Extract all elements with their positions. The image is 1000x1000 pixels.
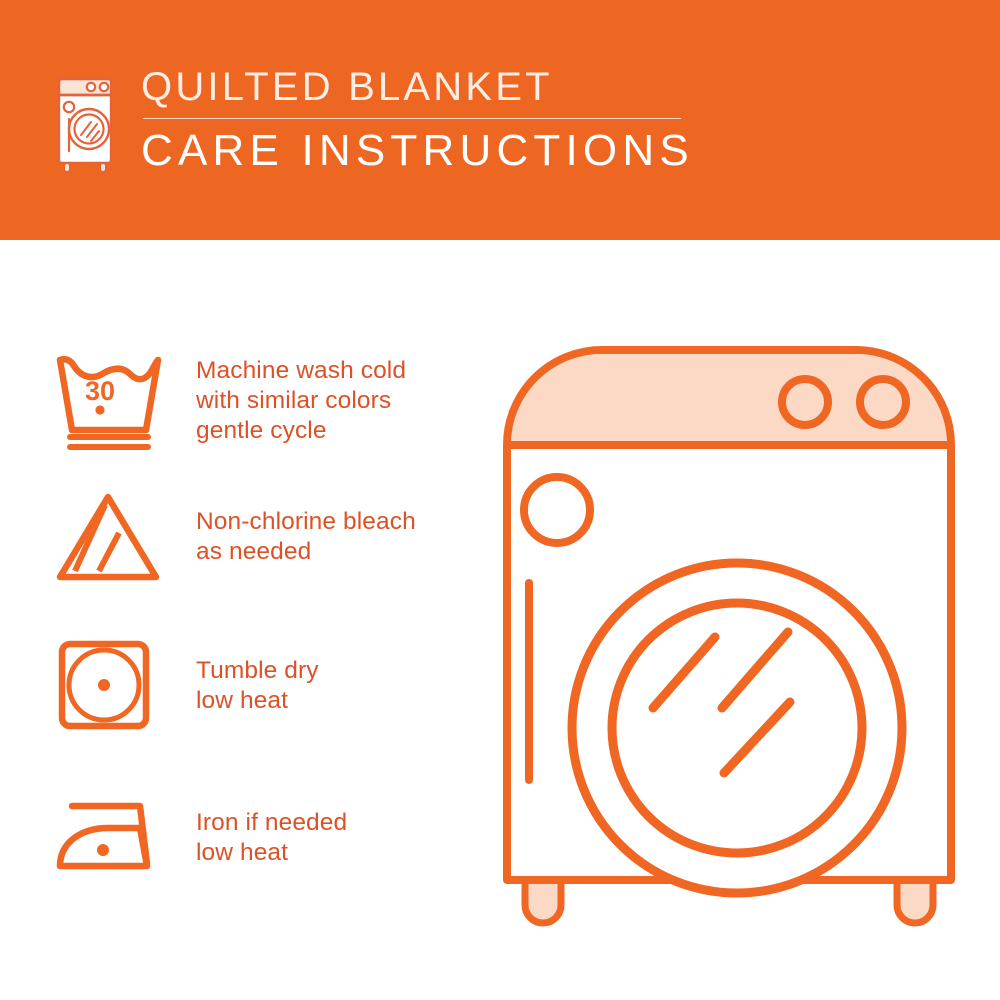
care-row-iron: Iron if needed low heat — [48, 788, 488, 894]
washer-dial-2 — [860, 379, 906, 425]
page-subtitle: QUILTED BLANKET — [141, 63, 694, 111]
care-instruction-list: 30 Machine wash cold with similar colors… — [0, 240, 500, 1000]
washing-machine-icon — [45, 65, 119, 175]
wash-tub-30-gentle-icon: 30 — [48, 346, 168, 452]
care-text-machine-wash: Machine wash cold with similar colors ge… — [196, 346, 406, 446]
care-text-tumble-dry: Tumble dry low heat — [196, 632, 319, 716]
title-divider — [143, 118, 681, 119]
washer-indicator-light — [524, 477, 590, 543]
care-text-bleach: Non-chlorine bleach as needed — [196, 485, 416, 567]
svg-text:30: 30 — [85, 376, 115, 406]
washer-door-inner-ring — [612, 603, 862, 853]
tumble-dry-low-heat-icon — [48, 632, 168, 738]
care-row-machine-wash: 30 Machine wash cold with similar colors… — [48, 346, 488, 452]
page-title: CARE INSTRUCTIONS — [141, 125, 694, 177]
iron-low-heat-icon — [48, 788, 168, 894]
care-row-tumble-dry: Tumble dry low heat — [48, 632, 488, 738]
non-chlorine-bleach-triangle-icon — [48, 485, 168, 591]
header-content: QUILTED BLANKET CARE INSTRUCTIONS — [45, 63, 694, 177]
front-load-washing-machine-illustration — [485, 330, 975, 930]
care-row-bleach: Non-chlorine bleach as needed — [48, 485, 488, 591]
header-banner: QUILTED BLANKET CARE INSTRUCTIONS — [0, 0, 1000, 240]
washer-dial-1 — [782, 379, 828, 425]
header-title-block: QUILTED BLANKET CARE INSTRUCTIONS — [141, 63, 694, 177]
care-text-iron: Iron if needed low heat — [196, 788, 347, 868]
